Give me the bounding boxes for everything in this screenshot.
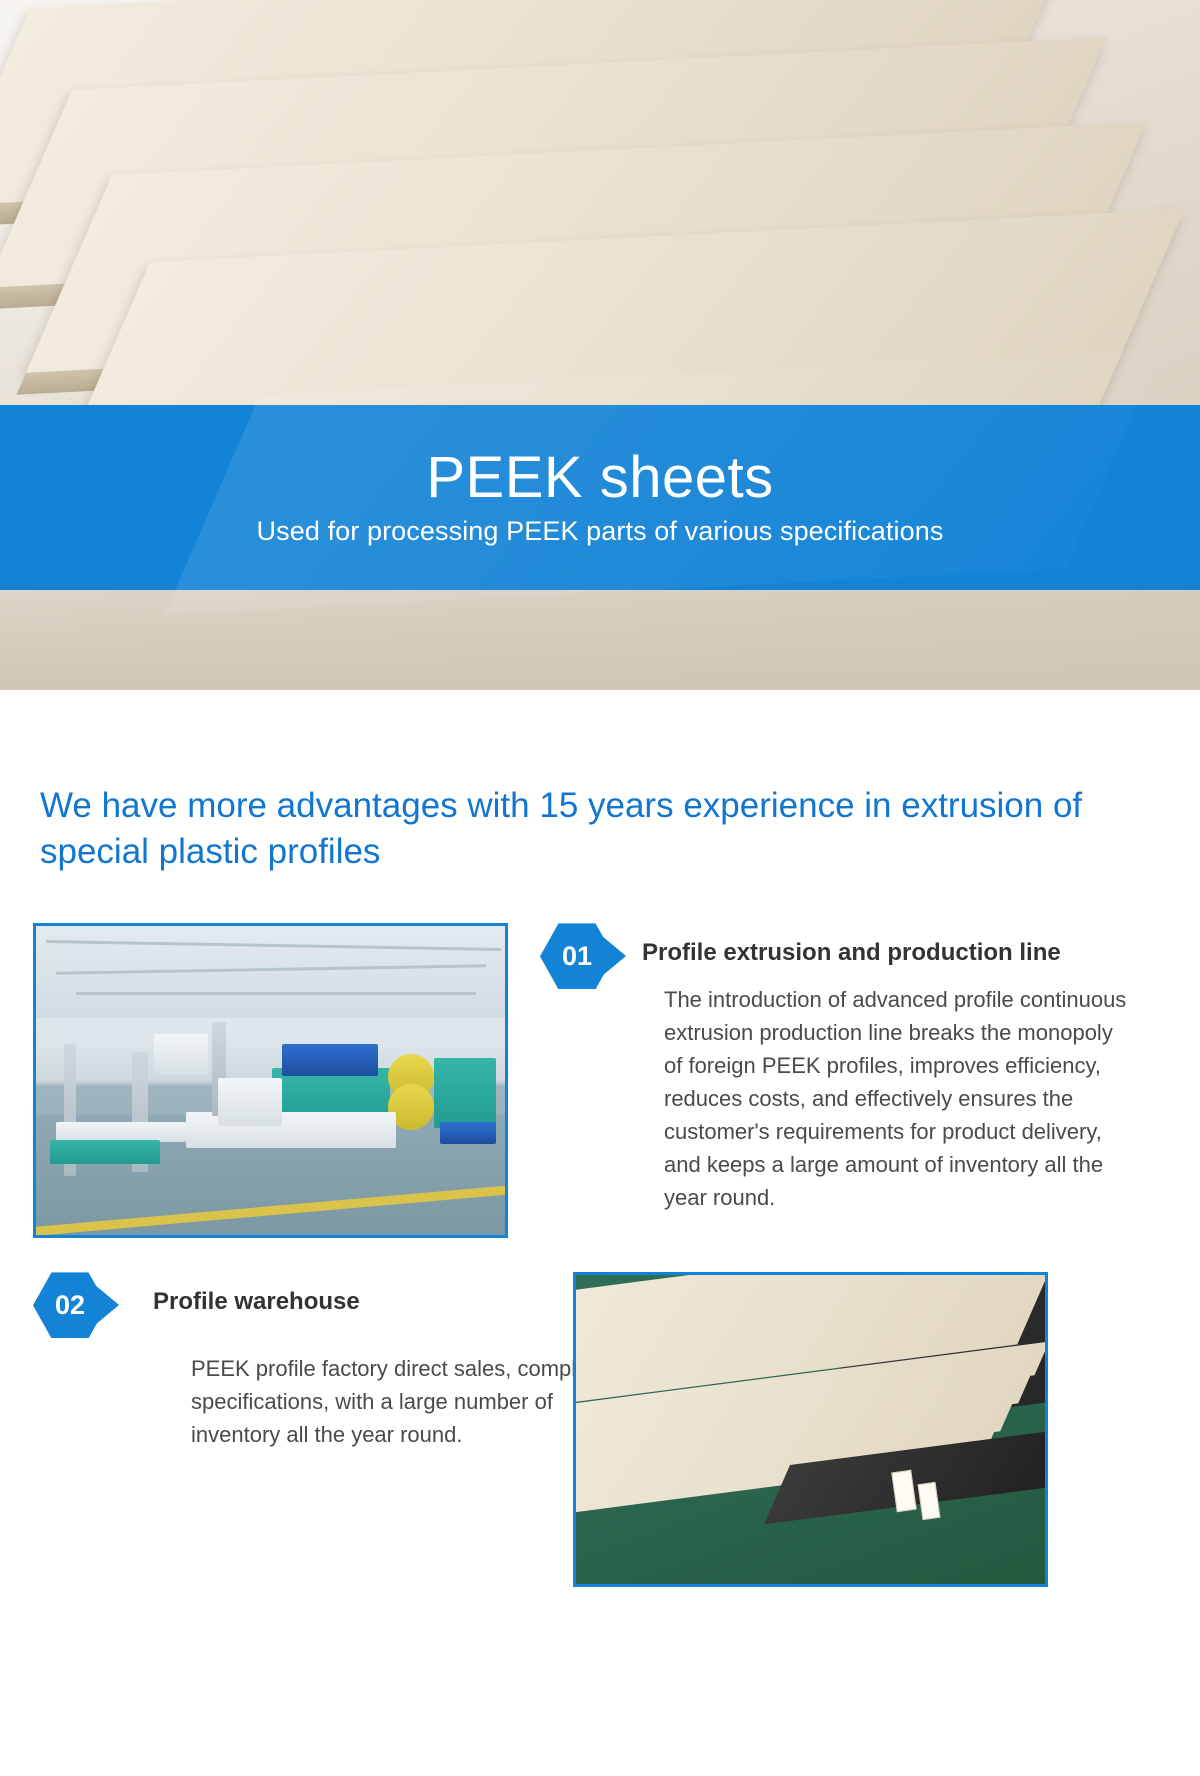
features-section: 01 Profile extrusion and production line… (0, 923, 1200, 1587)
feature-2-badge: 02 (33, 1272, 129, 1342)
feature-row-2: 02 Profile warehouse PEEK profile factor… (0, 1272, 1200, 1587)
feature-1-badge: 01 (540, 923, 636, 993)
feature-row-1: 01 Profile extrusion and production line… (0, 923, 1200, 1238)
feature-2-body: PEEK profile factory direct sales, compl… (191, 1352, 626, 1451)
product-detail-page: PEEK sheets Used for processing PEEK par… (0, 0, 1200, 1776)
feature-2-title: Profile warehouse (153, 1286, 633, 1318)
hero-section: PEEK sheets Used for processing PEEK par… (0, 0, 1200, 690)
hero-title-band: PEEK sheets Used for processing PEEK par… (0, 405, 1200, 590)
feature-1-title: Profile extrusion and production line (642, 937, 1180, 969)
feature-1-badge-arrow (602, 936, 626, 976)
feature-1-body: The introduction of advanced profile con… (664, 983, 1134, 1214)
feature-2-image (573, 1272, 1048, 1587)
feature-2-badge-arrow (95, 1285, 119, 1325)
hero-subtitle: Used for processing PEEK parts of variou… (257, 516, 944, 547)
feature-1-image (33, 923, 508, 1238)
hero-title: PEEK sheets (426, 448, 773, 509)
section-headline: We have more advantages with 15 years ex… (40, 783, 1160, 875)
